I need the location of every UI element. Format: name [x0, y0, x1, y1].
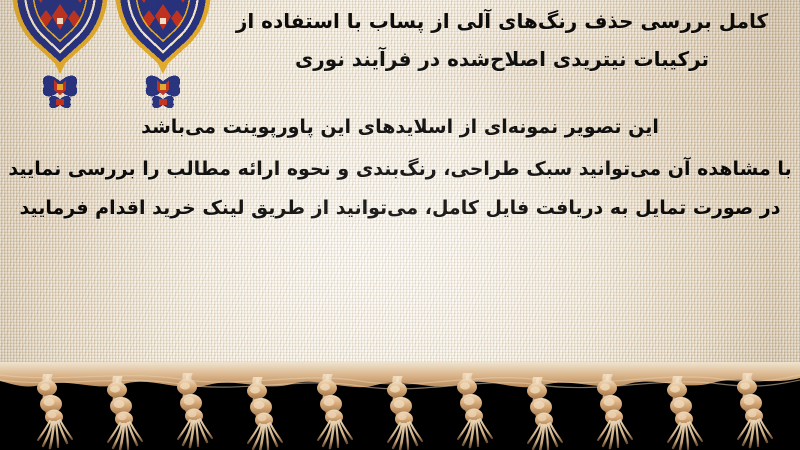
slide-body: این تصویر نمونه‌ای از اسلایدهای این پاور…	[0, 108, 800, 228]
carpet-fringe-band	[0, 362, 800, 450]
persian-medallion-right	[115, 0, 211, 115]
body-line-3: در صورت تمایل به دریافت فایل کامل، می‌تو…	[0, 189, 800, 228]
body-line-2: با مشاهده آن می‌توانید سبک طراحی، رنگ‌بن…	[0, 150, 800, 189]
slide-canvas: کامل بررسی حذف رنگ‌های آلی از پساب با اس…	[0, 0, 800, 450]
body-line-1: این تصویر نمونه‌ای از اسلایدهای این پاور…	[0, 108, 800, 147]
title-line-2: ترکیبات نیتریدی اصلاح‌شده در فرآیند نوری	[222, 40, 782, 78]
slide-title: کامل بررسی حذف رنگ‌های آلی از پساب با اس…	[222, 2, 782, 78]
title-line-1: کامل بررسی حذف رنگ‌های آلی از پساب با اس…	[222, 2, 782, 40]
persian-medallion-left	[12, 0, 108, 115]
ornament-group	[0, 0, 230, 115]
